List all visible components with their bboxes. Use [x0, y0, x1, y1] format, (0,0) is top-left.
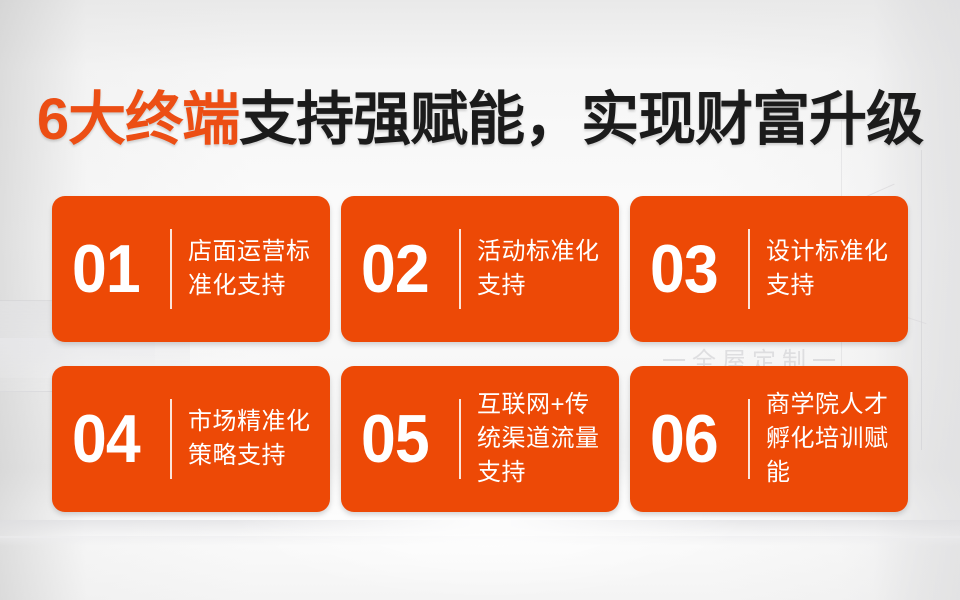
feature-card-number: 03 — [650, 235, 738, 303]
feature-card-label: 商学院人才孵化培训赋能 — [766, 388, 894, 490]
feature-card-divider — [170, 229, 172, 309]
feature-card-divider — [459, 229, 461, 309]
page-title-main: 支持强赋能，实现财富升级 — [239, 87, 923, 152]
feature-card-number: 04 — [72, 405, 160, 473]
feature-card-grid: 01 店面运营标准化支持 02 活动标准化支持 03 设计标准化支持 04 市场… — [52, 196, 908, 512]
background-wall-seam-1 — [921, 150, 922, 450]
feature-card-label: 互联网+传统渠道流量支持 — [477, 388, 605, 490]
poster-canvas: 一全屋定制一 6大终端支持强赋能，实现财富升级 01 店面运营标准化支持 02 … — [0, 0, 960, 600]
feature-card-label: 设计标准化支持 — [766, 235, 894, 303]
feature-card-01[interactable]: 01 店面运营标准化支持 — [52, 196, 330, 342]
feature-card-divider — [748, 399, 750, 479]
feature-card-04[interactable]: 04 市场精准化策略支持 — [52, 366, 330, 512]
feature-card-divider — [459, 399, 461, 479]
feature-card-number: 05 — [361, 405, 449, 473]
page-title-accent: 6大终端 — [37, 87, 239, 152]
feature-card-number: 02 — [361, 235, 449, 303]
feature-card-06[interactable]: 06 商学院人才孵化培训赋能 — [630, 366, 908, 512]
feature-card-divider — [170, 399, 172, 479]
feature-card-label: 活动标准化支持 — [477, 235, 605, 303]
page-title: 6大终端支持强赋能，实现财富升级 — [0, 89, 960, 151]
background-floor-shadow — [0, 536, 960, 546]
feature-card-05[interactable]: 05 互联网+传统渠道流量支持 — [341, 366, 619, 512]
feature-card-number: 06 — [650, 405, 738, 473]
feature-card-03[interactable]: 03 设计标准化支持 — [630, 196, 908, 342]
background-floor-line — [0, 520, 960, 538]
feature-card-number: 01 — [72, 235, 160, 303]
feature-card-divider — [748, 229, 750, 309]
feature-card-02[interactable]: 02 活动标准化支持 — [341, 196, 619, 342]
feature-card-label: 市场精准化策略支持 — [188, 405, 316, 473]
feature-card-label: 店面运营标准化支持 — [188, 235, 316, 303]
